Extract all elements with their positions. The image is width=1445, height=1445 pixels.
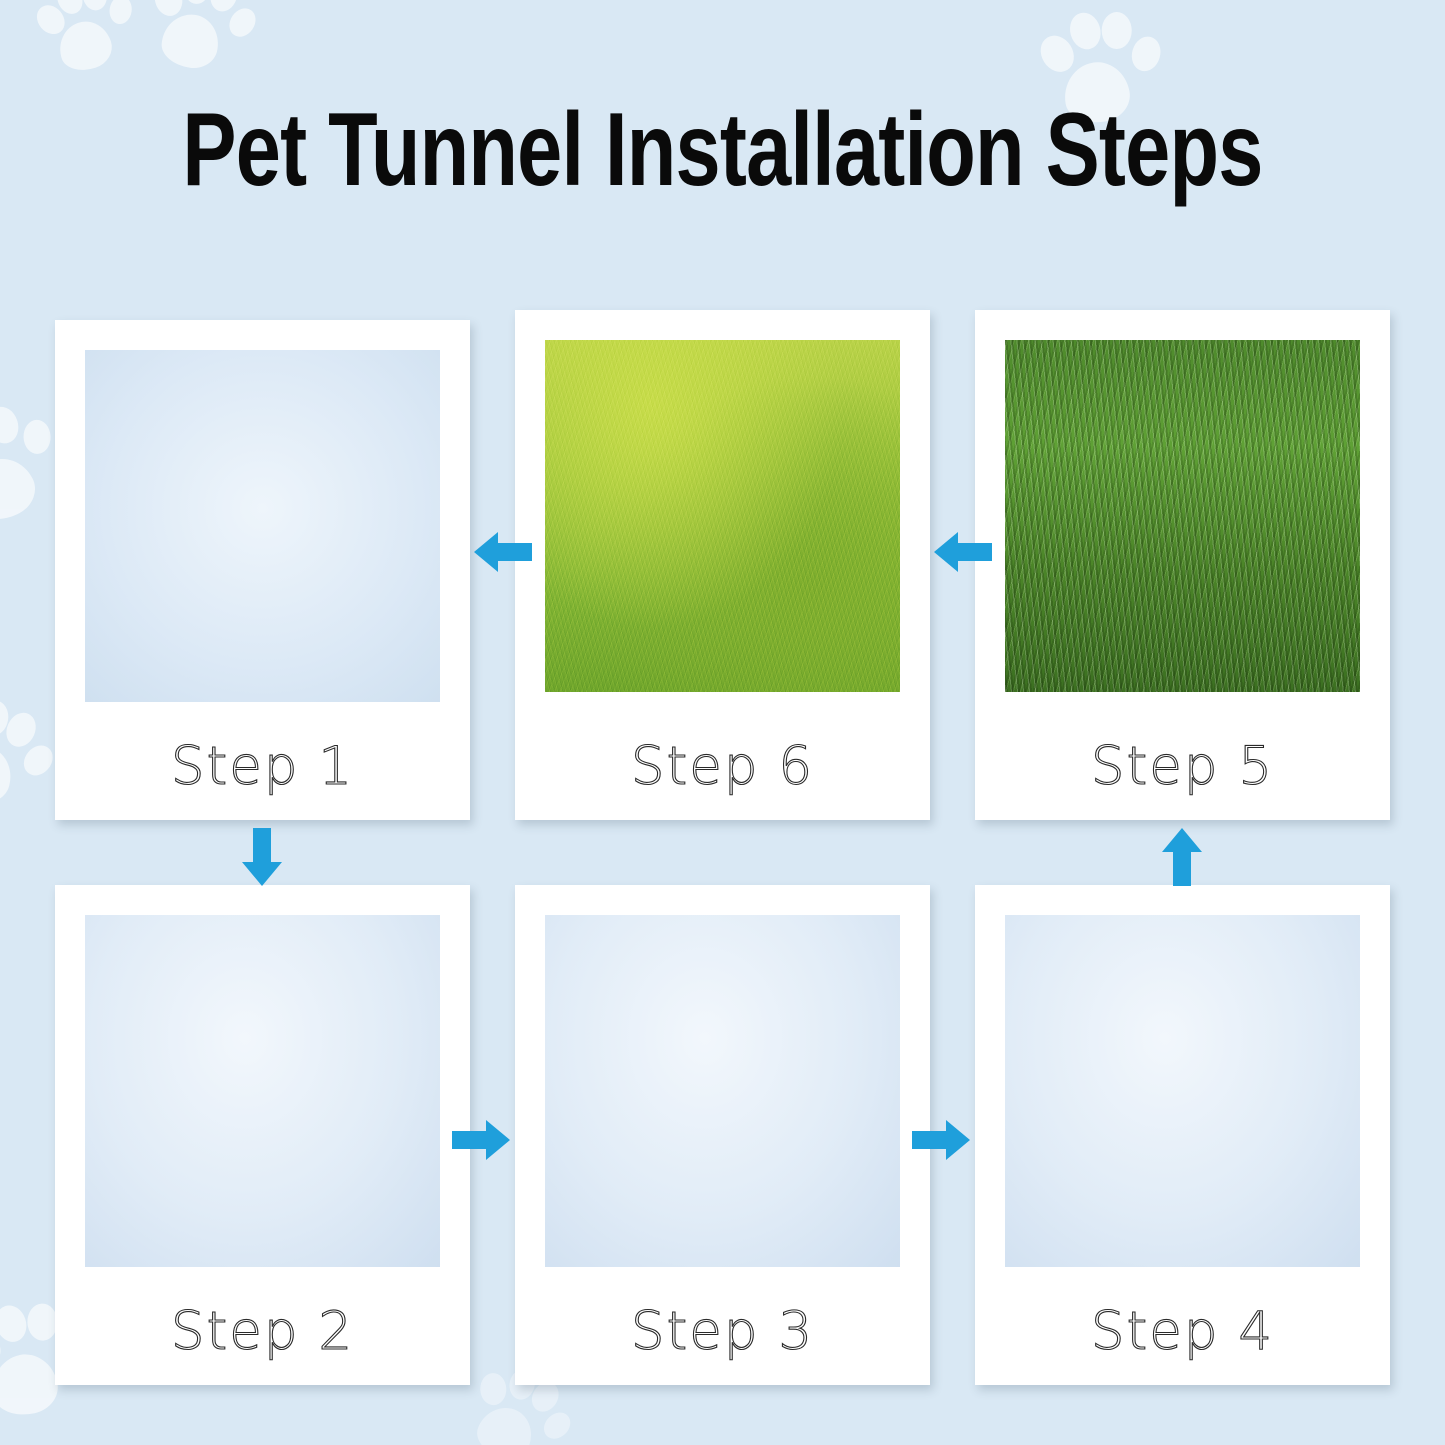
photo-assembled-tunnel-on-grass (545, 340, 900, 692)
arrow-step1-to-step2 (234, 826, 290, 888)
step-caption-6: Step 6 (515, 712, 930, 820)
step-caption-5: Step 5 (975, 712, 1390, 820)
arrow-step5-to-step6 (932, 524, 994, 580)
step-caption-4: Step 4 (975, 1277, 1390, 1385)
arrow-step3-to-step4 (910, 1112, 972, 1168)
step-caption-3: Step 3 (515, 1277, 930, 1385)
step-card-3[interactable]: Step 3 (515, 885, 930, 1385)
photo-hands-stretching-tunnel-open (1005, 915, 1360, 1267)
step-card-4[interactable]: Step 4 (975, 885, 1390, 1385)
photo-folded-tunnel-in-carry-bag (85, 350, 440, 702)
step-caption-1: Step 1 (55, 712, 470, 820)
step-card-1[interactable]: Step 1 (55, 320, 470, 820)
step-caption-2: Step 2 (55, 1277, 470, 1385)
arrow-step4-to-step5 (1154, 826, 1210, 888)
arrow-step6-to-step1 (472, 524, 534, 580)
steps-grid: Step 1 (0, 0, 1445, 1445)
arrow-step2-to-step3 (450, 1112, 512, 1168)
step-card-6[interactable]: Step 6 (515, 310, 930, 820)
photo-compressed-tunnel-ring-tied (85, 915, 440, 1267)
photo-hand-inserting-ground-stake (1005, 340, 1360, 692)
step-card-2[interactable]: Step 2 (55, 885, 470, 1385)
photo-hands-untying-black-cord (545, 915, 900, 1267)
step-card-5[interactable]: Step 5 (975, 310, 1390, 820)
